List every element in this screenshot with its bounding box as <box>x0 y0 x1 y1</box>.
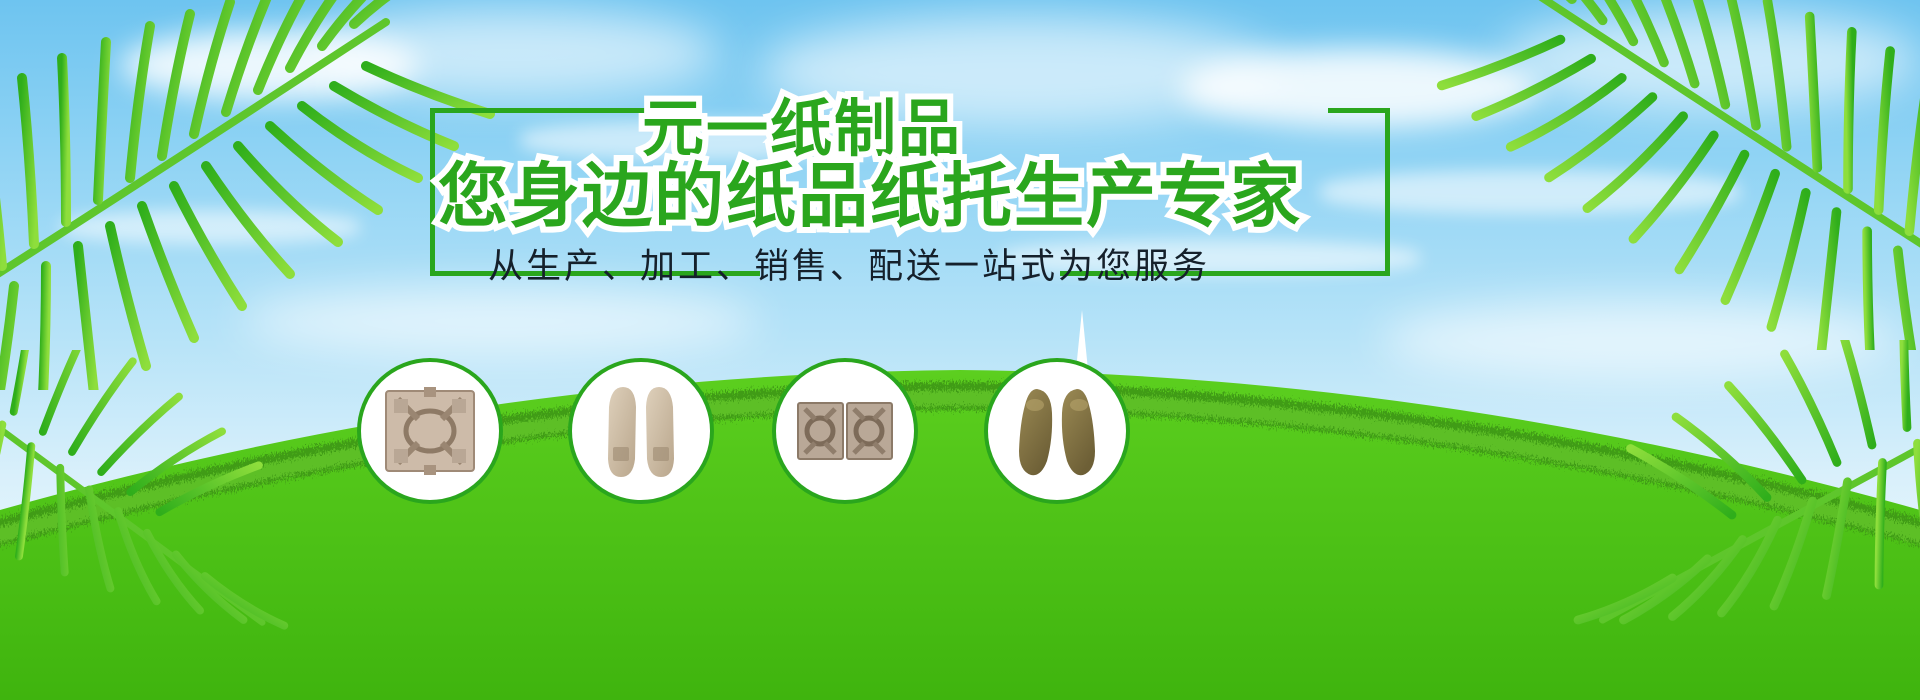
cloud-shape <box>1500 10 1920 110</box>
subtitle: 从生产、加工、销售、配送一站式为您服务 <box>488 238 1210 289</box>
cloud-shape <box>60 210 360 244</box>
city-skyline-silhouette <box>0 270 1920 700</box>
molded-pulp-tray-square-icon <box>380 381 480 481</box>
green-hill <box>0 300 1920 700</box>
product-circle[interactable] <box>568 358 714 504</box>
molded-pulp-shoe-form-pair-icon <box>1007 381 1107 481</box>
palm-leaf-icon <box>0 350 410 700</box>
cloud-shape <box>120 30 420 100</box>
headline-block: 元一纸制品 您身边的纸品纸托生产专家 <box>430 78 1390 238</box>
grass-texture <box>0 382 1920 552</box>
molded-pulp-tray-double-icon <box>795 381 895 481</box>
product-circle[interactable] <box>357 358 503 504</box>
palm-leaf-icon <box>1460 340 1920 700</box>
headline: 您身边的纸品纸托生产专家 <box>438 140 1302 241</box>
product-circle[interactable] <box>984 358 1130 504</box>
promo-banner: 元一纸制品 您身边的纸品纸托生产专家 从生产、加工、销售、配送一站式为您服务 <box>0 0 1920 700</box>
cloud-shape <box>1380 300 1900 380</box>
cloud-shape <box>240 286 760 356</box>
palm-leaf-icon <box>1380 0 1920 350</box>
product-circle[interactable] <box>772 358 918 504</box>
molded-pulp-shoe-insert-pair-icon <box>591 381 691 481</box>
